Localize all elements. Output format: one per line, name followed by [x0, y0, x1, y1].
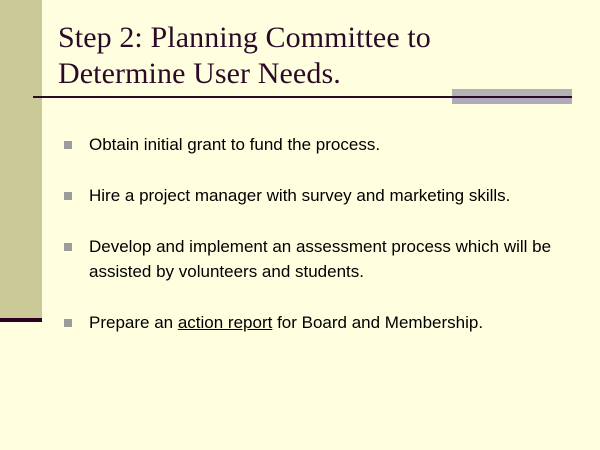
list-item: Develop and implement an assessment proc… [62, 234, 562, 284]
square-bullet-icon [64, 243, 72, 251]
slide-title-line-2: Determine User Needs. [58, 56, 558, 92]
list-item-text-prefix: Develop and implement an assessment proc… [89, 237, 551, 281]
square-bullet-icon [64, 141, 72, 149]
title-divider-rule [33, 96, 572, 98]
list-item-text-prefix: Obtain initial grant to fund the process… [89, 135, 380, 154]
title-accent-bar-lower [452, 98, 572, 104]
list-item: Hire a project manager with survey and m… [62, 183, 562, 208]
left-decorative-band [0, 0, 42, 318]
left-band-bottom-rule [0, 318, 42, 322]
list-item-emphasis: action report [178, 313, 273, 332]
list-item-text: Prepare an action report for Board and M… [89, 310, 562, 335]
slide-title-line-1: Step 2: Planning Committee to [58, 20, 558, 56]
list-item-text-prefix: Hire a project manager with survey and m… [89, 186, 510, 205]
title-accent-bar-upper [452, 89, 572, 96]
bullet-list: Obtain initial grant to fund the process… [62, 132, 562, 335]
presentation-slide: Step 2: Planning Committee to Determine … [0, 0, 600, 450]
square-bullet-icon [64, 192, 72, 200]
square-bullet-icon [64, 319, 72, 327]
list-item-text-prefix: Prepare an [89, 313, 178, 332]
list-item: Obtain initial grant to fund the process… [62, 132, 562, 157]
list-item-text: Obtain initial grant to fund the process… [89, 132, 562, 157]
list-item-text-suffix: for Board and Membership. [272, 313, 483, 332]
list-item-text: Develop and implement an assessment proc… [89, 234, 562, 284]
slide-title: Step 2: Planning Committee to Determine … [58, 20, 558, 92]
list-item-text: Hire a project manager with survey and m… [89, 183, 562, 208]
list-item: Prepare an action report for Board and M… [62, 310, 562, 335]
